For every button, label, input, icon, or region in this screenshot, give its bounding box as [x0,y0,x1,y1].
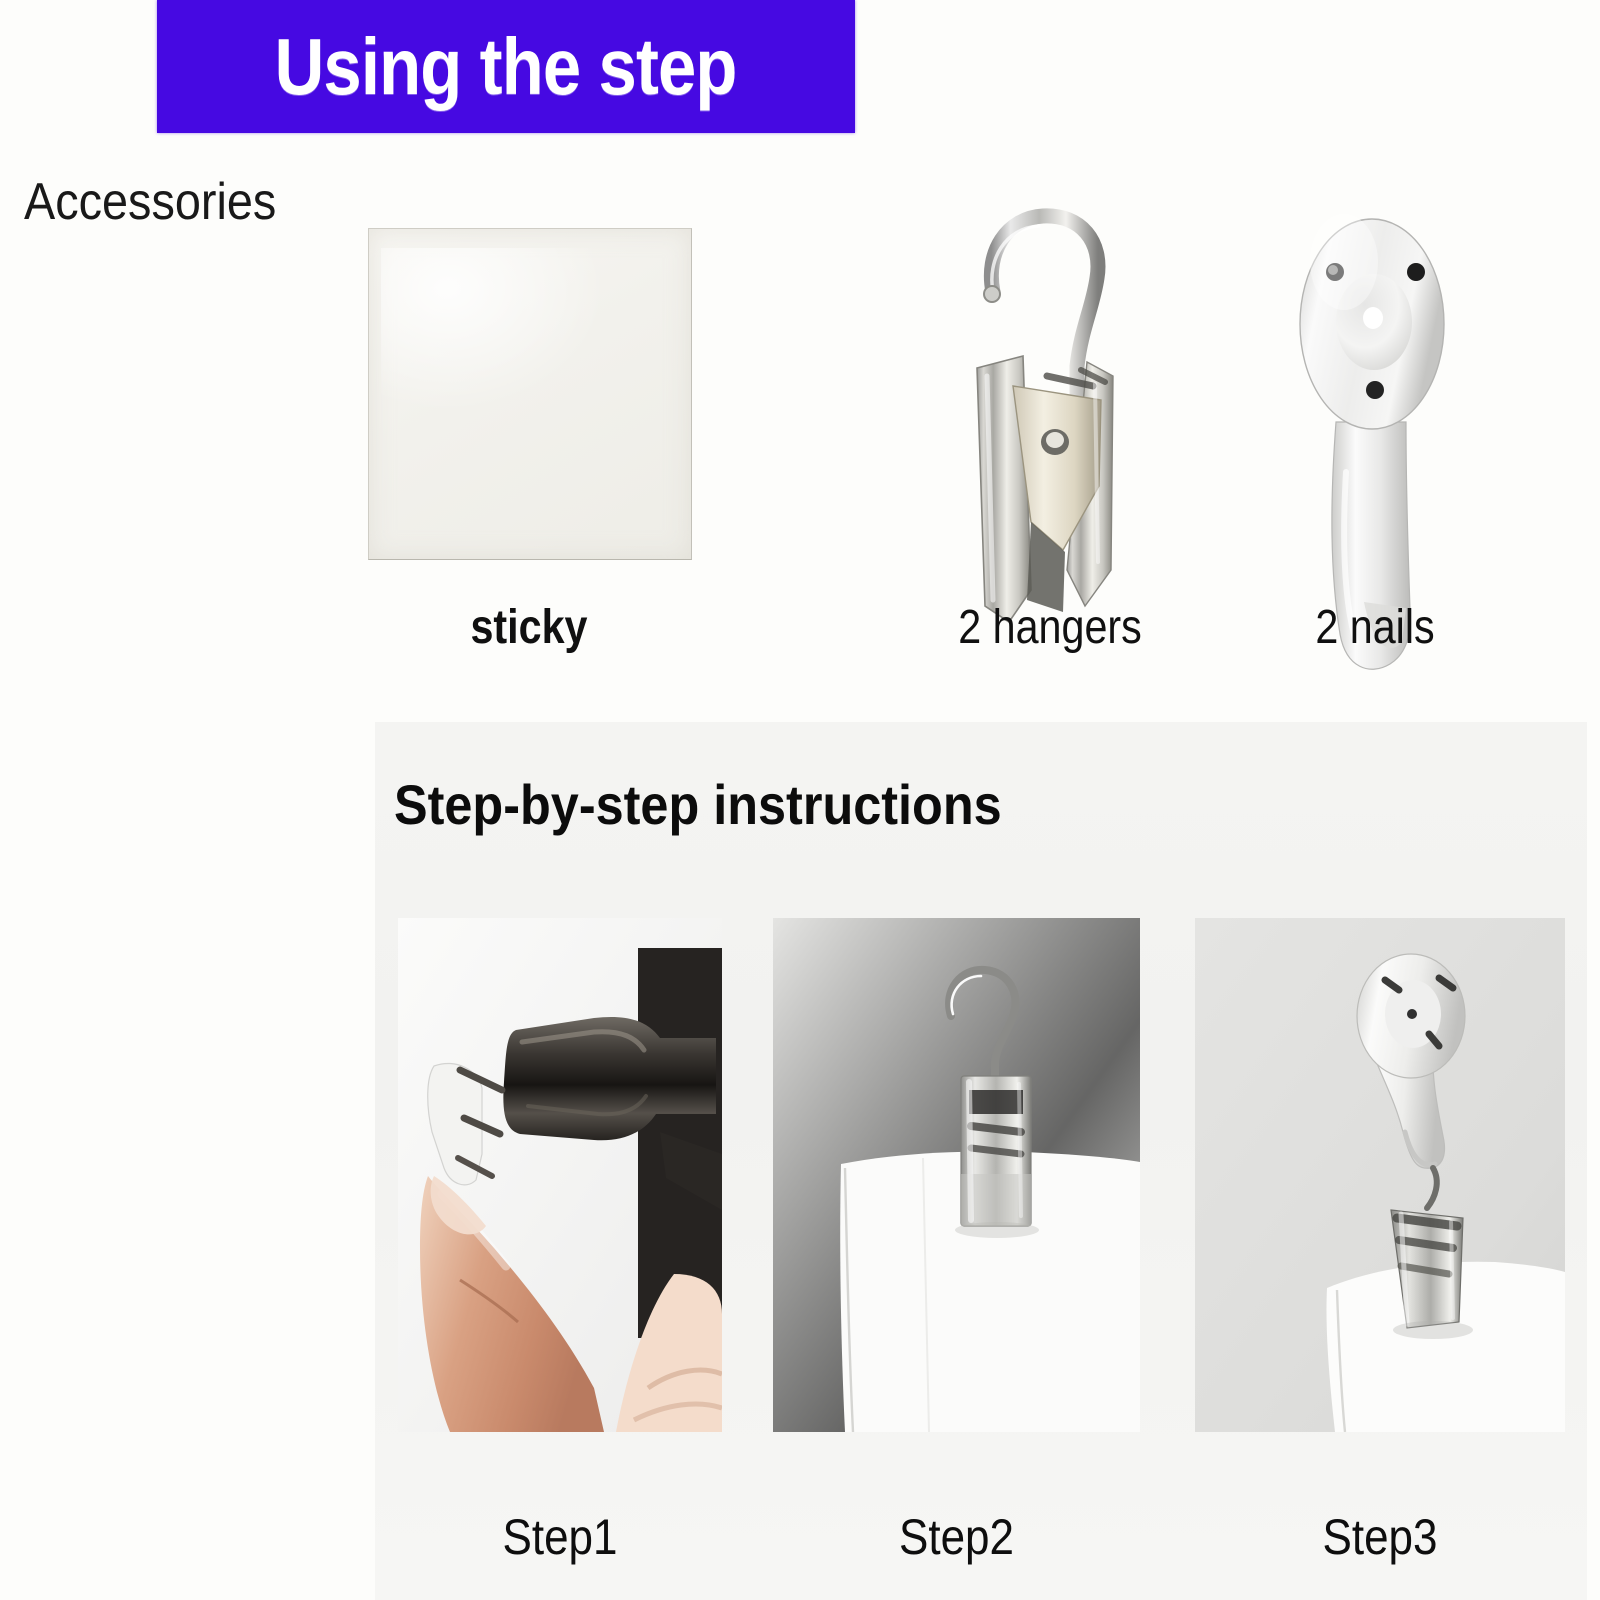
title-banner: Using the step [157,0,855,133]
clip-gripping-sheet-photo [773,918,1140,1432]
accessory-labels: sticky 2 hangers 2 nails [0,600,1600,670]
mounted-hook-holding-sheet-photo [1195,918,1565,1432]
accessory-sticky [368,228,690,558]
hammering-hook-into-wall-photo [398,918,722,1432]
step3-label: Step3 [1217,1508,1543,1566]
accessory-label-nails: 2 nails [1263,600,1487,655]
accessories-row [0,150,1600,670]
page-title: Using the step [275,27,737,107]
step3-photo [1195,918,1565,1432]
infographic-page: Using the step Accessories [0,0,1600,1600]
step1-photo [398,918,722,1432]
step2-label: Step2 [795,1508,1118,1566]
adhesive-pad-icon [368,228,692,560]
step2-photo [773,918,1140,1432]
accessory-label-hangers: 2 hangers [925,600,1174,655]
step1-label: Step1 [417,1508,702,1566]
accessory-label-sticky: sticky [391,600,668,655]
instructions-heading: Step-by-step instructions [394,772,1002,837]
